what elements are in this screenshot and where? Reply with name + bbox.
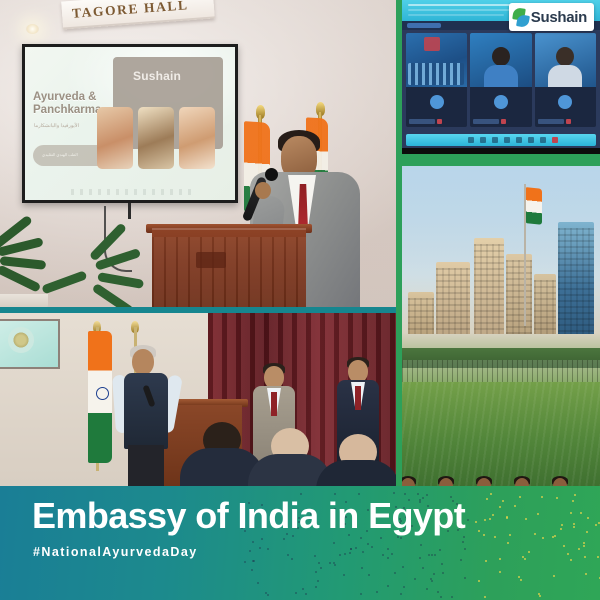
potted-plant (0, 236, 80, 309)
camera-icon[interactable] (480, 137, 486, 143)
podium (152, 228, 306, 309)
participant-nameplate (538, 119, 564, 124)
browser-tab (407, 23, 441, 28)
wall-display (0, 319, 60, 369)
stage-banner (424, 37, 440, 51)
participant-tile (470, 33, 531, 127)
participant-avatar (558, 95, 572, 109)
fence (402, 360, 600, 382)
sushain-leaf-icon (513, 8, 530, 27)
slide-brand-logo: Sushain (133, 69, 181, 83)
skyline-building (474, 238, 504, 334)
participant-face (556, 47, 574, 66)
share-screen-icon[interactable] (492, 137, 498, 143)
page-title: Embassy of India in Egypt (32, 496, 465, 536)
skyline-building (534, 274, 556, 334)
ceiling-light-icon (26, 24, 39, 34)
participant-face (492, 47, 510, 66)
leave-meeting-icon[interactable] (552, 137, 558, 143)
podium-wood-grain (152, 237, 306, 309)
slide-thumbnail (179, 107, 215, 169)
skyline-building (436, 262, 470, 334)
participant-nameplate (409, 119, 435, 124)
sushain-wordmark: Sushain (531, 9, 587, 26)
indian-flag (526, 187, 542, 225)
panel-divider-horizontal-left (0, 307, 396, 313)
participant-video (535, 33, 596, 87)
participant-body (548, 65, 582, 87)
poster-canvas: TAGORE HALL Sushain Ayurveda & Panchkarm… (0, 0, 600, 600)
panel-video-conference: Sushain (402, 0, 600, 160)
mandala-graphic (8, 327, 34, 353)
potted-plant (84, 250, 170, 309)
slide-footer-ornament (71, 189, 191, 195)
participant-video (406, 33, 467, 87)
participant-tile (535, 33, 596, 127)
panel-divider-vertical (396, 0, 402, 486)
participant-video (470, 33, 531, 87)
hashtag-label: #NationalAyurvedaDay (33, 545, 198, 559)
lawn (402, 382, 600, 486)
ashoka-chakra-icon (96, 387, 109, 400)
reactions-icon[interactable] (540, 137, 546, 143)
projector-screen: Sushain Ayurveda & Panchkarma الأيورفيدا… (22, 44, 238, 203)
participant-avatar (430, 95, 444, 109)
speaker-hand (255, 182, 271, 199)
chat-icon[interactable] (516, 137, 522, 143)
record-icon[interactable] (528, 137, 534, 143)
participant-nameplate (473, 119, 499, 124)
slide-thumbnail (138, 107, 174, 169)
skyline-building (408, 292, 434, 334)
speaker-head (132, 349, 154, 375)
podium-plaque (196, 252, 226, 268)
audience-group (408, 63, 464, 85)
sushain-logo: Sushain (509, 3, 594, 31)
participant-tile (406, 33, 467, 127)
participant-avatar (494, 95, 508, 109)
panel-embassy-hall (0, 313, 396, 486)
skyline-building (506, 254, 532, 334)
panel-group-photo (402, 166, 600, 486)
audience-member (316, 434, 396, 486)
skyline-glass-tower (558, 222, 594, 334)
speaker-trousers (128, 445, 164, 486)
meeting-controls-bar[interactable] (406, 134, 596, 146)
microphone-head (265, 168, 278, 181)
panel-divider-horizontal-right (396, 160, 600, 166)
participants-icon[interactable] (504, 137, 510, 143)
panel-main-speaker-photo: TAGORE HALL Sushain Ayurveda & Panchkarm… (0, 0, 396, 309)
slide-thumbnail (97, 107, 133, 169)
presentation-slide: Sushain Ayurveda & Panchkarma الأيورفيدا… (25, 47, 235, 200)
slide-caption-pill-label: الطب الهندي التقليدي (42, 152, 78, 157)
venue-sign-label: TAGORE HALL (72, 0, 190, 22)
mute-icon[interactable] (468, 137, 474, 143)
participant-body (484, 65, 518, 87)
slide-title-line1: Ayurveda & (33, 91, 129, 104)
participant-grid (406, 33, 596, 127)
